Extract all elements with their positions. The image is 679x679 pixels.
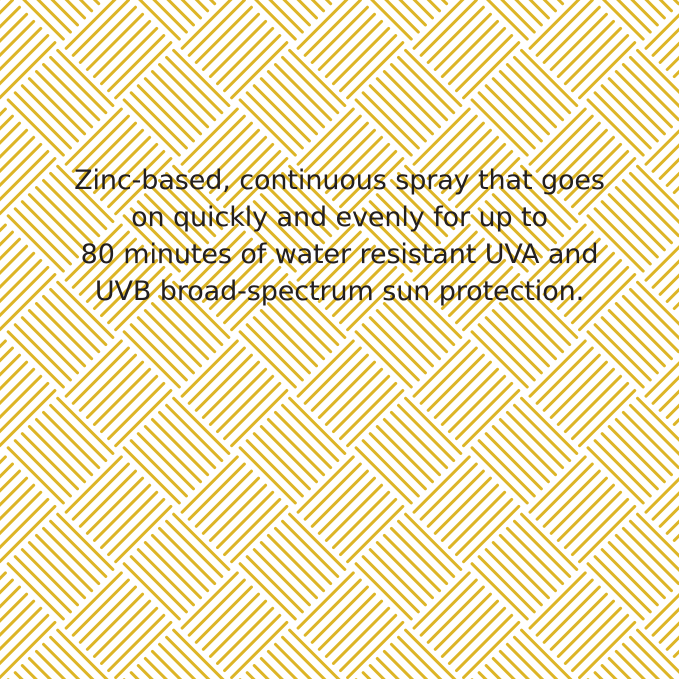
hatch-tile	[298, 573, 403, 678]
hatch-tile	[182, 341, 287, 446]
hatch-tile	[8, 398, 113, 503]
basket-weave-hatch-pattern	[0, 0, 679, 679]
hatch-tile	[356, 630, 461, 679]
hatch-tile	[8, 514, 113, 619]
hatch-tile	[298, 0, 403, 98]
hatch-tile	[646, 457, 679, 562]
hatch-tile	[414, 573, 519, 678]
hatch-tile	[530, 341, 635, 446]
hatch-tile	[182, 457, 287, 562]
hatch-tile	[530, 0, 635, 98]
hatch-tile	[356, 398, 461, 503]
hatch-tile	[472, 0, 577, 39]
hatch-tile	[182, 573, 287, 678]
hatch-tile	[356, 50, 461, 155]
hatch-tile	[8, 0, 113, 39]
hatch-tile	[356, 514, 461, 619]
hatch-tile	[588, 630, 679, 679]
hatch-tile-group	[0, 0, 679, 679]
hatch-tile	[124, 398, 229, 503]
hatch-tile	[66, 573, 171, 678]
hatch-tile	[298, 341, 403, 446]
hatch-tile	[646, 0, 679, 98]
hatch-tile	[472, 50, 577, 155]
description-block: Zinc-based, continuous spray that goes o…	[0, 162, 679, 310]
hatch-tile	[66, 0, 171, 98]
hatch-tile	[472, 630, 577, 679]
hatch-tile	[240, 50, 345, 155]
hatch-tile	[8, 50, 113, 155]
hatch-tile	[588, 0, 679, 39]
hatch-tile	[0, 0, 55, 98]
hatch-tile	[588, 398, 679, 503]
hatch-tile	[240, 0, 345, 39]
hatch-tile	[0, 573, 55, 678]
hatch-tile	[8, 630, 113, 679]
hatch-tile	[0, 457, 55, 562]
hatch-tile	[124, 630, 229, 679]
hatch-tile	[298, 457, 403, 562]
hatch-tile	[588, 514, 679, 619]
hatch-tile	[66, 341, 171, 446]
hatch-tile	[124, 514, 229, 619]
hatch-tile	[414, 341, 519, 446]
hatch-tile	[240, 630, 345, 679]
hatch-tile	[182, 0, 287, 98]
hatch-tile	[414, 0, 519, 98]
hatch-tile	[240, 398, 345, 503]
hatch-tile	[240, 514, 345, 619]
hatch-tile	[124, 0, 229, 39]
hatch-tile	[124, 50, 229, 155]
hatch-tile	[588, 50, 679, 155]
decorative-pattern-svg	[0, 0, 679, 679]
hatch-tile	[414, 457, 519, 562]
hatch-tile	[646, 573, 679, 678]
product-description-text: Zinc-based, continuous spray that goes o…	[0, 162, 679, 310]
hatch-tile	[530, 457, 635, 562]
product-description-card: Zinc-based, continuous spray that goes o…	[0, 0, 679, 679]
hatch-tile	[472, 398, 577, 503]
hatch-tile	[530, 573, 635, 678]
hatch-tile	[646, 341, 679, 446]
hatch-tile	[0, 341, 55, 446]
hatch-tile	[356, 0, 461, 39]
hatch-tile	[472, 514, 577, 619]
hatch-tile	[66, 457, 171, 562]
